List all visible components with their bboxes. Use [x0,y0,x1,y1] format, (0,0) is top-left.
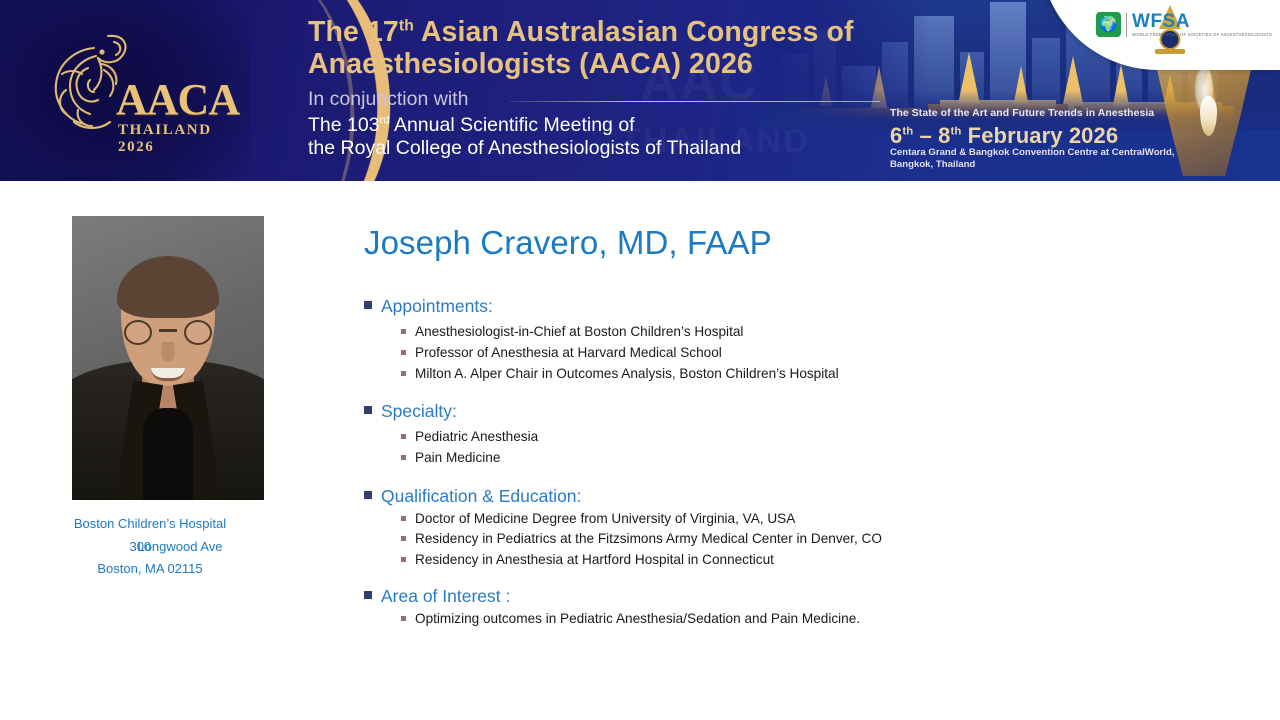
aaca-acronym: AACA [116,74,239,125]
section-item-list: Doctor of Medicine Degree from Universit… [364,509,1064,570]
section-heading: Qualification & Education: [381,486,581,507]
banner-title-line2: Anaesthesiologists (AACA) 2026 [308,48,753,80]
list-item-text: Pain Medicine [415,448,500,469]
section-item-list: Pediatric Anesthesia Pain Medicine [364,427,1064,469]
banner-date-month-year: February 2026 [961,123,1118,148]
sub-bullet-icon [401,516,406,521]
sub-bullet-icon [401,434,406,439]
sub-bullet-icon [401,329,406,334]
section-appointments: Appointments: Anesthesiologist-in-Chief … [364,296,1064,384]
speaker-address: Boston Children’s Hospital 300Longwood A… [0,513,300,581]
address-line-3: Boston, MA 02115 [0,558,300,581]
list-item-text: Anesthesiologist-in-Chief at Boston Chil… [415,322,743,343]
section-item-list: Anesthesiologist-in-Chief at Boston Chil… [364,322,1064,384]
congress-header-banner: AACA THAILAND [0,0,1280,181]
aaca-country-year: THAILAND 2026 [118,122,224,156]
section-specialty: Specialty: Pediatric Anesthesia Pain Med… [364,401,1064,469]
banner-title-ordinal: th [399,18,414,35]
list-item-text: Pediatric Anesthesia [415,427,538,448]
section-bullet-icon [364,406,372,414]
banner-theme-text: The State of the Art and Future Trends i… [890,108,1220,119]
speaker-photo [72,216,264,500]
list-item: Professor of Anesthesia at Harvard Medic… [364,343,1064,364]
section-heading: Specialty: [381,401,457,422]
list-item-text: Residency in Pediatrics at the Fitzsimon… [415,529,882,549]
list-item: Doctor of Medicine Degree from Universit… [364,509,1064,529]
banner-in-conjunction-label: In conjunction with [308,88,468,111]
list-item: Anesthesiologist-in-Chief at Boston Chil… [364,322,1064,343]
banner-subtitle: The 103rd Annual Scientific Meeting of t… [308,114,908,159]
section-bullet-icon [364,491,372,499]
aaca-logo: AACA THAILAND 2026 [42,22,224,157]
speaker-details: Appointments: Anesthesiologist-in-Chief … [364,296,1064,630]
sub-bullet-icon [401,455,406,460]
list-item: Pain Medicine [364,448,1064,469]
banner-sub-line2: the Royal College of Anesthesiologists o… [308,137,741,159]
list-item: Residency in Pediatrics at the Fitzsimon… [364,529,1064,549]
banner-divider-line [510,101,880,102]
speaker-name-title: Joseph Cravero, MD, FAAP [364,224,772,262]
banner-date-dash: – [913,123,938,148]
section-heading: Area of Interest : [381,586,510,607]
section-area-of-interest: Area of Interest : Optimizing outcomes i… [364,586,1064,630]
address-street-number: 300 [77,536,137,559]
banner-date-day2: 8 [938,123,950,148]
list-item-text: Milton A. Alper Chair in Outcomes Analys… [415,364,839,385]
address-line-1: Boston Children’s Hospital [0,513,300,536]
wfsa-divider [1126,13,1127,37]
banner-title-post: Asian Australasian Congress of [414,16,854,48]
address-street-name: Longwood Ave [137,539,222,554]
section-bullet-icon [364,301,372,309]
banner-date-day1-ord: th [902,126,913,138]
wfsa-globe-icon: 🌍 [1096,12,1121,37]
list-item-text: Residency in Anesthesia at Hartford Hosp… [415,550,774,570]
wfsa-logo: 🌍 WFSA WORLD FEDERATION OF SOCIETIES OF … [1096,12,1272,37]
banner-venue: Centara Grand & Bangkok Convention Centr… [890,147,1220,172]
banner-sub-pre: The 103 [308,114,380,136]
banner-sub-post: Annual Scientific Meeting of [390,114,635,136]
sub-bullet-icon [401,557,406,562]
wfsa-subtitle: WORLD FEDERATION OF SOCIETIES OF ANAESTH… [1132,33,1272,37]
banner-main-title: The 17th Asian Australasian Congress of … [308,16,928,81]
banner-title-pre: The 17 [308,16,399,48]
banner-venue-line2: Bangkok, Thailand [890,159,975,170]
list-item: Residency in Anesthesia at Hartford Hosp… [364,550,1064,570]
list-item: Milton A. Alper Chair in Outcomes Analys… [364,364,1064,385]
section-bullet-icon [364,591,372,599]
list-item: Pediatric Anesthesia [364,427,1064,448]
sub-bullet-icon [401,536,406,541]
banner-date-day1: 6 [890,123,902,148]
sub-bullet-icon [401,616,406,621]
list-item: Optimizing outcomes in Pediatric Anesthe… [364,609,1064,630]
banner-date: 6th – 8th February 2026 [890,123,1118,149]
banner-venue-line1: Centara Grand & Bangkok Convention Centr… [890,147,1174,158]
sub-bullet-icon [401,350,406,355]
address-line-2: 300Longwood Ave [0,536,300,559]
list-item-text: Professor of Anesthesia at Harvard Medic… [415,343,722,364]
section-qualification-education: Qualification & Education: Doctor of Med… [364,486,1064,570]
section-heading: Appointments: [381,296,493,317]
sub-bullet-icon [401,371,406,376]
list-item-text: Optimizing outcomes in Pediatric Anesthe… [415,609,860,630]
section-item-list: Optimizing outcomes in Pediatric Anesthe… [364,609,1064,630]
banner-sub-ordinal: rd [380,115,390,127]
wfsa-title: WFSA [1132,12,1272,31]
banner-date-day2-ord: th [950,126,961,138]
list-item-text: Doctor of Medicine Degree from Universit… [415,509,795,529]
